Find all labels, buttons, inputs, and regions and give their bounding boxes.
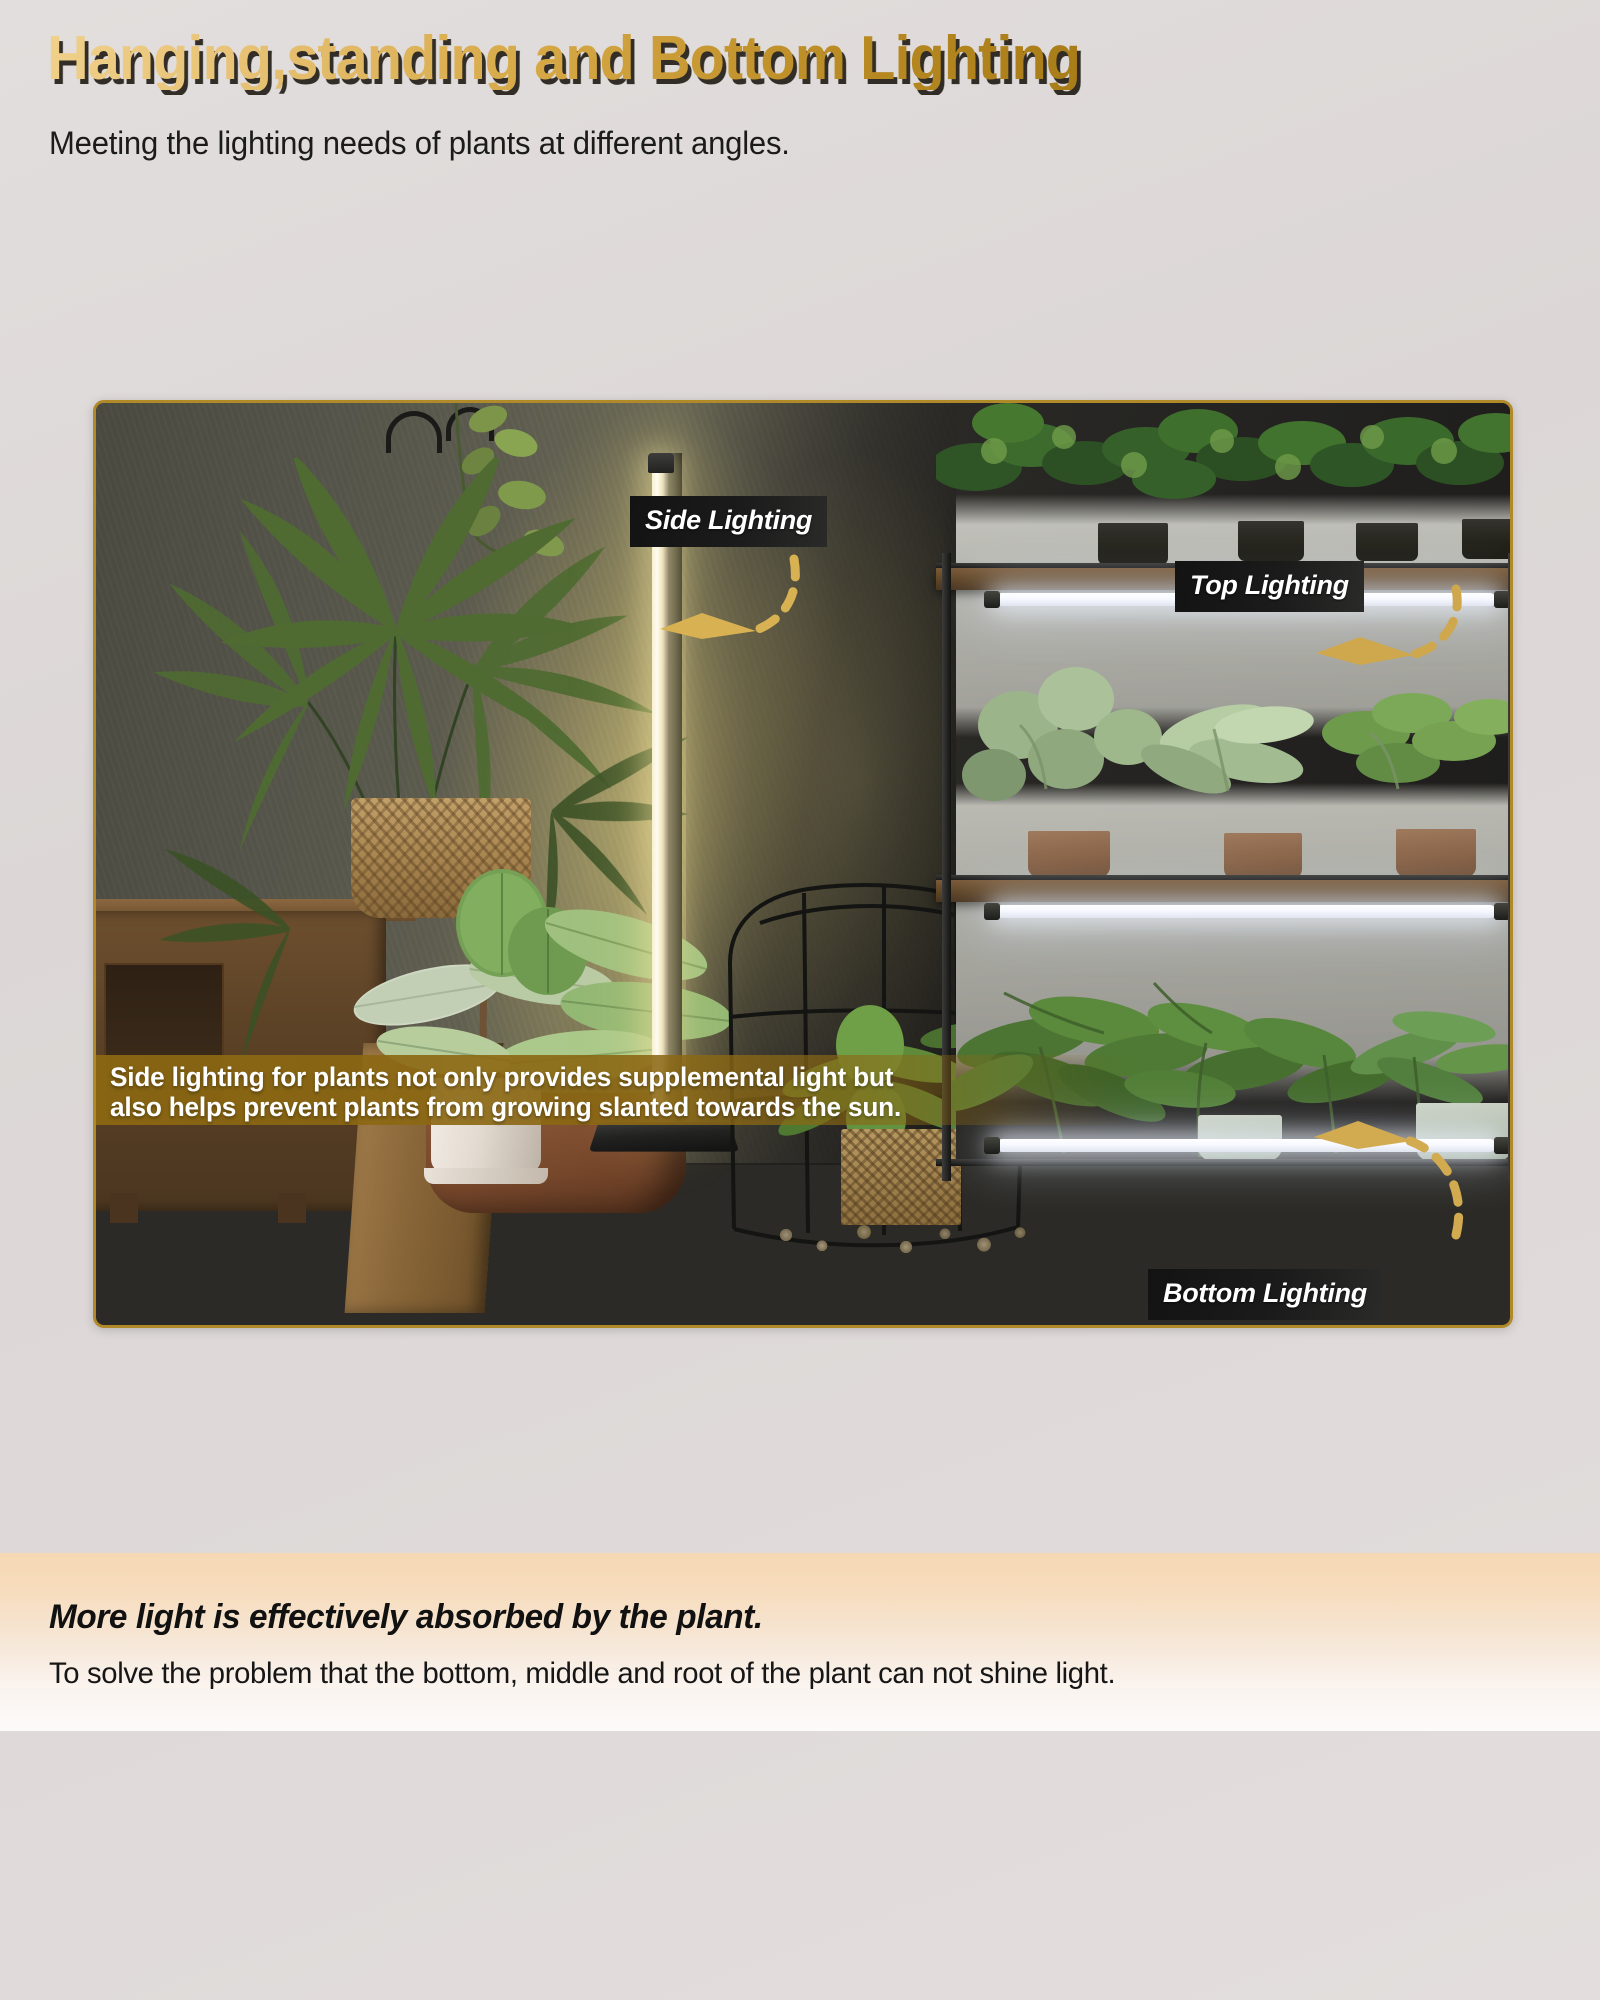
shelf-board	[936, 880, 1510, 902]
benefit-text: To solve the problem that the bottom, mi…	[49, 1657, 1115, 1691]
shelf-pot	[1238, 521, 1304, 561]
shelf-pot	[1396, 829, 1476, 877]
page-subtitle: Meeting the lighting needs of plants at …	[49, 125, 790, 162]
caption-line-2: also helps prevent plants from growing s…	[110, 1092, 1105, 1122]
shelf-pot	[1224, 833, 1302, 879]
shelf-pot	[1462, 519, 1510, 559]
bottom-lighting-arrow-icon	[1276, 1103, 1476, 1243]
lighting-scene: Side Lighting Top Lighting Bottom Lighti…	[96, 403, 1510, 1325]
caption-line-1: Side lighting for plants not only provid…	[110, 1062, 1105, 1092]
shelf-top-foliage	[936, 403, 1510, 539]
sideboard-leg	[278, 1193, 306, 1223]
led-grow-tube	[996, 905, 1496, 918]
side-lighting-arrow-icon	[636, 553, 816, 673]
benefit-heading: More light is effectively absorbed by th…	[49, 1598, 763, 1637]
product-photo-frame: Side Lighting Top Lighting Bottom Lighti…	[93, 400, 1513, 1328]
sideboard-leg	[110, 1193, 138, 1223]
led-tube-cap	[984, 903, 1000, 920]
shelf-pot	[1356, 523, 1418, 561]
shelf-pot	[1028, 831, 1110, 877]
photo-caption-band: Side lighting for plants not only provid…	[96, 1055, 1136, 1125]
led-tube-cap	[984, 591, 1000, 608]
shelf-post	[1508, 553, 1510, 1181]
benefit-band	[0, 1553, 1600, 1731]
page-header: Hanging,standing and Bottom Lighting Mee…	[0, 0, 1600, 200]
shelf-pot	[1198, 1115, 1282, 1161]
led-tube-cap	[984, 1137, 1000, 1154]
bottom-lighting-tag-overlay: Bottom Lighting	[1148, 1269, 1382, 1320]
top-lighting-tag: Top Lighting	[1175, 561, 1364, 612]
white-planter-base	[424, 1168, 548, 1184]
side-lighting-tag: Side Lighting	[630, 496, 827, 547]
page-title: Hanging,standing and Bottom Lighting	[47, 28, 1080, 90]
shelf-pot	[1098, 523, 1168, 565]
led-floor-lamp-cap	[648, 453, 674, 473]
decorative-pebbles	[744, 1199, 1044, 1259]
